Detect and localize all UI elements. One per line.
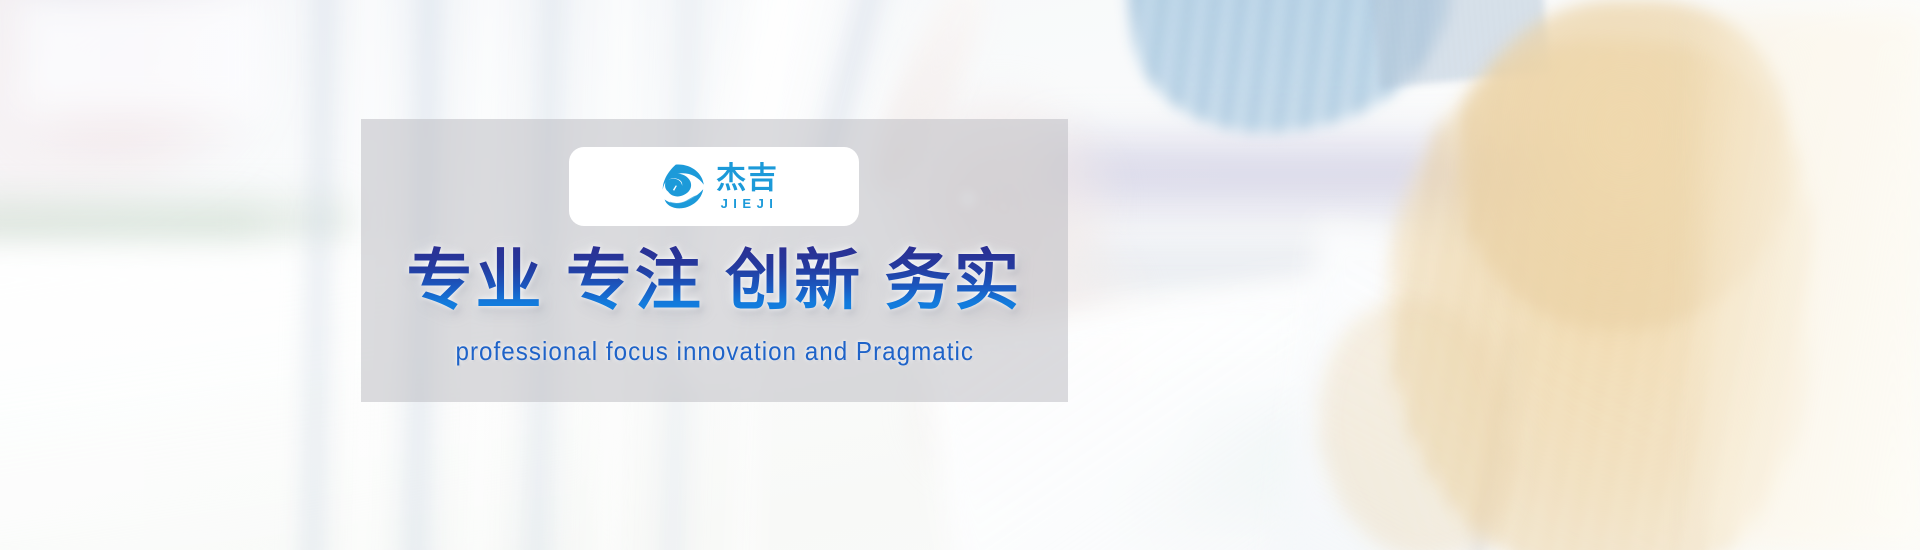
brand-name-en: JIEJI [721,197,779,210]
brand-wordmark: 杰吉 JIEJI [716,164,779,210]
slogan-container: 专业 专注 创新 务实 [361,246,1068,315]
brand-name-cn: 杰吉 [716,164,778,194]
hero-banner: 杰吉 JIEJI 专业 专注 创新 务实 professional focus … [0,0,1920,550]
subtitle-container: professional focus innovation and Pragma… [361,336,1068,367]
slogan-main: 专业 专注 创新 务实 [406,246,1022,315]
brand-logo-plate[interactable]: 杰吉 JIEJI [569,147,859,226]
jieji-swirl-mark [650,159,706,215]
slogan-subtitle: professional focus innovation and Pragma… [455,336,973,367]
